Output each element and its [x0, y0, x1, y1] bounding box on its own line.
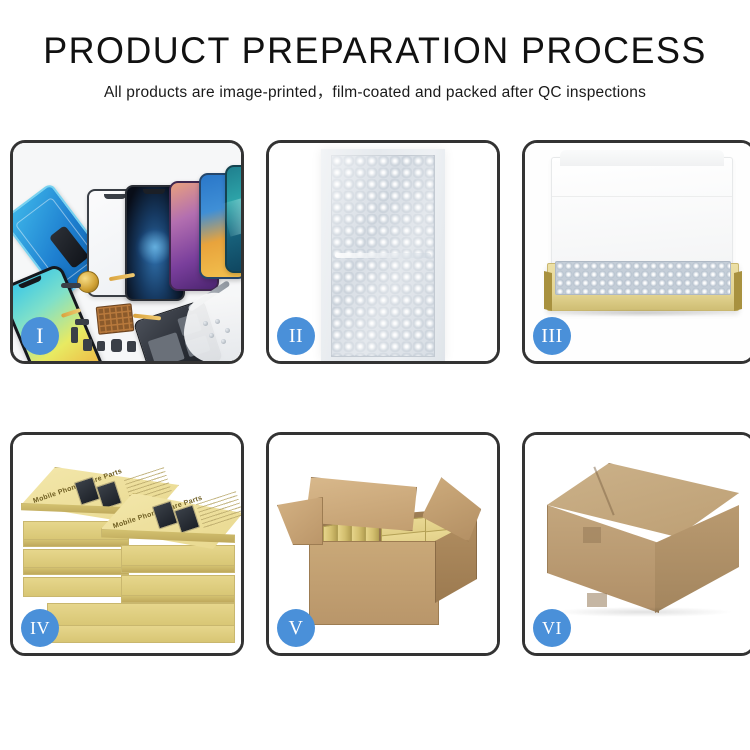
step-badge-4: IV	[21, 609, 59, 647]
bubble-wrapped-contents	[555, 261, 731, 295]
carton-shadow	[555, 607, 731, 617]
step-badge-3: III	[533, 317, 571, 355]
step-panel-4: Mobile Phone Spare Parts Mobile Phone Sp…	[10, 432, 244, 656]
phone-screen-teal	[225, 165, 241, 273]
box-shadow	[551, 309, 733, 317]
page-subtitle: All products are image-printed，film-coat…	[0, 80, 750, 102]
product-preparation-infographic: PRODUCT PREPARATION PROCESS All products…	[0, 0, 750, 750]
page-title: PRODUCT PREPARATION PROCESS	[11, 30, 739, 72]
step-badge-6: VI	[533, 609, 571, 647]
step-badge-5: V	[277, 609, 315, 647]
carton-tape-lower	[587, 593, 607, 607]
step-panel-5: V	[266, 432, 500, 656]
step-panel-2: II	[266, 140, 500, 364]
bubble-wrap-fold	[335, 253, 431, 258]
white-box-lid	[551, 157, 733, 275]
step-badge-2: II	[277, 317, 315, 355]
screws-group	[201, 319, 235, 345]
speaker-coil	[77, 271, 99, 293]
chip-grid	[96, 303, 135, 335]
step-panel-6: VI	[522, 432, 750, 656]
step-badge-1: I	[21, 317, 59, 355]
step-panel-3: III	[522, 140, 750, 364]
header: PRODUCT PREPARATION PROCESS All products…	[0, 0, 750, 102]
carton-tape-upper	[583, 527, 601, 543]
step-panel-1: I	[10, 140, 244, 364]
carton-front-panel	[309, 541, 439, 625]
steps-grid: I II III	[10, 140, 740, 656]
